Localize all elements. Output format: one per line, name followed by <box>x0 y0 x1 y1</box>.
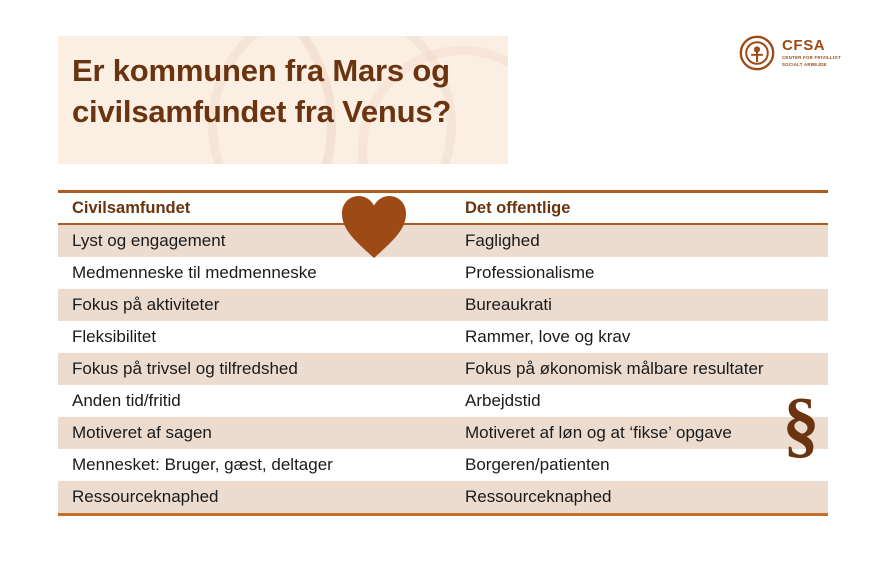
table-cell-left: Anden tid/fritid <box>58 385 451 417</box>
page-title: Er kommunen fra Mars og civilsamfundet f… <box>72 50 502 132</box>
table-row: Lyst og engagement Faglighed <box>58 225 828 257</box>
title-block: Er kommunen fra Mars og civilsamfundet f… <box>58 36 508 164</box>
table-row: Fokus på aktiviteter Bureaukrati <box>58 289 828 321</box>
cfsa-logo-wordmark: CFSA CENTER FOR FRIVILLIGT SOCIALT ARBEJ… <box>782 38 841 68</box>
table-cell-left: Fokus på aktiviteter <box>58 289 451 321</box>
cfsa-logo-subtitle-line-2: SOCIALT ARBEJDE <box>782 62 827 67</box>
table-cell-right: Professionalisme <box>451 257 828 289</box>
column-header-civilsamfundet: Civilsamfundet <box>58 193 451 223</box>
cfsa-logo: CFSA CENTER FOR FRIVILLIGT SOCIALT ARBEJ… <box>739 32 857 74</box>
table-row: Mennesket: Bruger, gæst, deltager Borger… <box>58 449 828 481</box>
table-cell-right: Borgeren/patienten <box>451 449 828 481</box>
cfsa-logo-name: CFSA <box>782 38 841 53</box>
table-header-row: Civilsamfundet Det offentlige <box>58 193 828 225</box>
cfsa-logo-subtitle: CENTER FOR FRIVILLIGT SOCIALT ARBEJDE <box>782 55 841 68</box>
table-cell-left: Ressourceknaphed <box>58 481 451 513</box>
table-cell-left: Motiveret af sagen <box>58 417 451 449</box>
table-cell-right: Faglighed <box>451 225 828 257</box>
table-cell-right: Rammer, love og krav <box>451 321 828 353</box>
table-cell-left: Fokus på trivsel og tilfredshed <box>58 353 451 385</box>
table-row: Anden tid/fritid Arbejdstid <box>58 385 828 417</box>
table-cell-right: Ressourceknaphed <box>451 481 828 513</box>
table-row: Fleksibilitet Rammer, love og krav <box>58 321 828 353</box>
table-row: Fokus på trivsel og tilfredshed Fokus på… <box>58 353 828 385</box>
comparison-table: Civilsamfundet Det offentlige Lyst og en… <box>58 190 828 516</box>
table-cell-right: Motiveret af løn og at ‘fikse’ opgave <box>451 417 828 449</box>
slide-canvas: Er kommunen fra Mars og civilsamfundet f… <box>0 0 885 561</box>
page-title-line-2: civilsamfundet fra Venus? <box>72 91 502 132</box>
table-cell-left: Medmenneske til medmenneske <box>58 257 451 289</box>
table-cell-left: Lyst og engagement <box>58 225 451 257</box>
table-cell-right: Fokus på økonomisk målbare resultater <box>451 353 828 385</box>
table-cell-left: Fleksibilitet <box>58 321 451 353</box>
table-cell-left: Mennesket: Bruger, gæst, deltager <box>58 449 451 481</box>
table-row: Ressourceknaphed Ressourceknaphed <box>58 481 828 513</box>
page-title-line-1: Er kommunen fra Mars og <box>72 50 502 91</box>
cfsa-logo-icon <box>739 35 775 71</box>
table-cell-right: Arbejdstid <box>451 385 828 417</box>
cfsa-logo-subtitle-line-1: CENTER FOR FRIVILLIGT <box>782 55 841 60</box>
column-header-det-offentlige: Det offentlige <box>451 193 828 223</box>
table-cell-right: Bureaukrati <box>451 289 828 321</box>
table-row: Medmenneske til medmenneske Professional… <box>58 257 828 289</box>
table-row: Motiveret af sagen Motiveret af løn og a… <box>58 417 828 449</box>
